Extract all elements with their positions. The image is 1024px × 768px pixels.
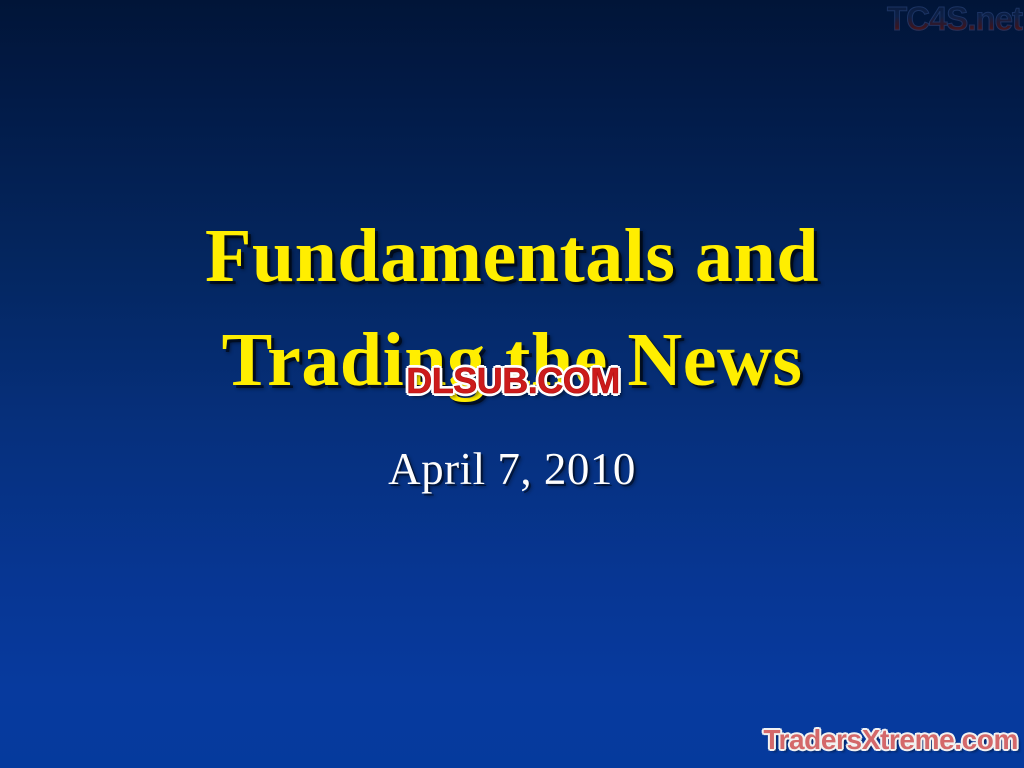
watermark-tc4s: TC4S.net	[828, 0, 1024, 38]
watermark-tc4s-text: TC4S.net	[887, 2, 1024, 36]
watermark-tradersxtreme-text: TradersXtreme.com	[763, 725, 1018, 755]
watermark-tradersxtreme: TradersXtreme.com	[763, 724, 1018, 756]
presentation-slide: TC4S.net Fundamentals and Trading the Ne…	[0, 0, 1024, 768]
watermark-dlsub: DLSUB.COM	[372, 361, 654, 401]
watermark-dlsub-text: DLSUB.COM	[406, 362, 620, 400]
slide-date: April 7, 2010	[0, 441, 1024, 497]
slide-title-line-1: Fundamentals and	[0, 204, 1024, 308]
